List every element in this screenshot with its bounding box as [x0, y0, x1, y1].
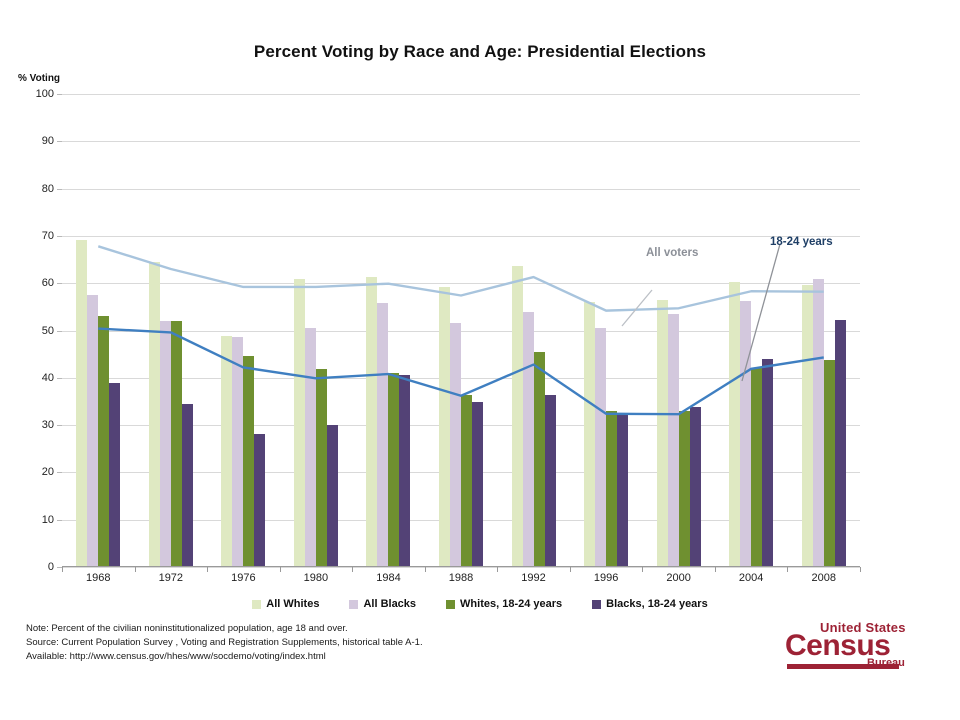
legend-swatch-icon	[349, 600, 358, 609]
x-axis-label: 2000	[666, 572, 690, 584]
x-tick-mark	[787, 567, 788, 572]
x-tick-mark	[352, 567, 353, 572]
y-tick-label: 0	[48, 561, 54, 573]
legend-item[interactable]: Whites, 18-24 years	[446, 598, 562, 610]
y-tick-label: 60	[42, 277, 54, 289]
x-axis-label: 2008	[811, 572, 835, 584]
footnote-available: Available: http://www.census.gov/hhes/ww…	[26, 650, 423, 664]
legend-item[interactable]: All Blacks	[349, 598, 416, 610]
y-tick-label: 40	[42, 372, 54, 384]
x-tick-mark	[642, 567, 643, 572]
x-tick-mark	[860, 567, 861, 572]
y-tick-label: 80	[42, 183, 54, 195]
legend-item[interactable]: Blacks, 18-24 years	[592, 598, 708, 610]
legend-label: Blacks, 18-24 years	[606, 598, 708, 610]
x-axis-label: 1968	[86, 572, 110, 584]
x-tick-mark	[425, 567, 426, 572]
legend-swatch-icon	[446, 600, 455, 609]
x-tick-mark	[280, 567, 281, 572]
x-axis-line	[62, 566, 860, 567]
legend-label: Whites, 18-24 years	[460, 598, 562, 610]
page-title: Percent Voting by Race and Age: Presiden…	[0, 42, 960, 62]
legend-item[interactable]: All Whites	[252, 598, 319, 610]
x-tick-mark	[715, 567, 716, 572]
y-tick-label: 100	[36, 88, 54, 100]
annotation-all-voters: All voters	[646, 247, 698, 259]
annotation-leader-lines	[62, 94, 860, 567]
y-tick-label: 10	[42, 514, 54, 526]
legend-swatch-icon	[252, 600, 261, 609]
x-tick-mark	[135, 567, 136, 572]
y-tick-label: 30	[42, 419, 54, 431]
logo-bureau: Bureau	[867, 657, 905, 669]
legend-swatch-icon	[592, 600, 601, 609]
footnote-note: Note: Percent of the civilian noninstitu…	[26, 622, 423, 636]
legend-label: All Blacks	[363, 598, 416, 610]
y-tick-label: 50	[42, 325, 54, 337]
x-axis-label: 1984	[376, 572, 400, 584]
x-axis-label: 1988	[449, 572, 473, 584]
annotation-18-24-years: 18-24 years	[770, 236, 833, 248]
x-tick-mark	[62, 567, 63, 572]
y-axis-title: % Voting	[18, 73, 60, 84]
x-axis-label: 1996	[594, 572, 618, 584]
x-tick-mark	[207, 567, 208, 572]
gridline	[62, 567, 860, 568]
x-axis-label: 2004	[739, 572, 763, 584]
footnote-source: Source: Current Population Survey , Voti…	[26, 636, 423, 650]
x-axis-label: 1976	[231, 572, 255, 584]
legend-label: All Whites	[266, 598, 319, 610]
y-tick-label: 90	[42, 135, 54, 147]
chart-plot-area: 0102030405060708090100 19681972197619801…	[62, 94, 860, 567]
x-axis-label: 1972	[159, 572, 183, 584]
x-axis-label: 1992	[521, 572, 545, 584]
census-bureau-logo: United States Census Bureau	[785, 620, 935, 672]
y-tick-label: 70	[42, 230, 54, 242]
x-tick-mark	[570, 567, 571, 572]
y-tick-label: 20	[42, 466, 54, 478]
footnotes: Note: Percent of the civilian noninstitu…	[26, 622, 423, 664]
chart-legend: All WhitesAll BlacksWhites, 18-24 yearsB…	[0, 598, 960, 610]
x-axis-label: 1980	[304, 572, 328, 584]
x-tick-mark	[497, 567, 498, 572]
